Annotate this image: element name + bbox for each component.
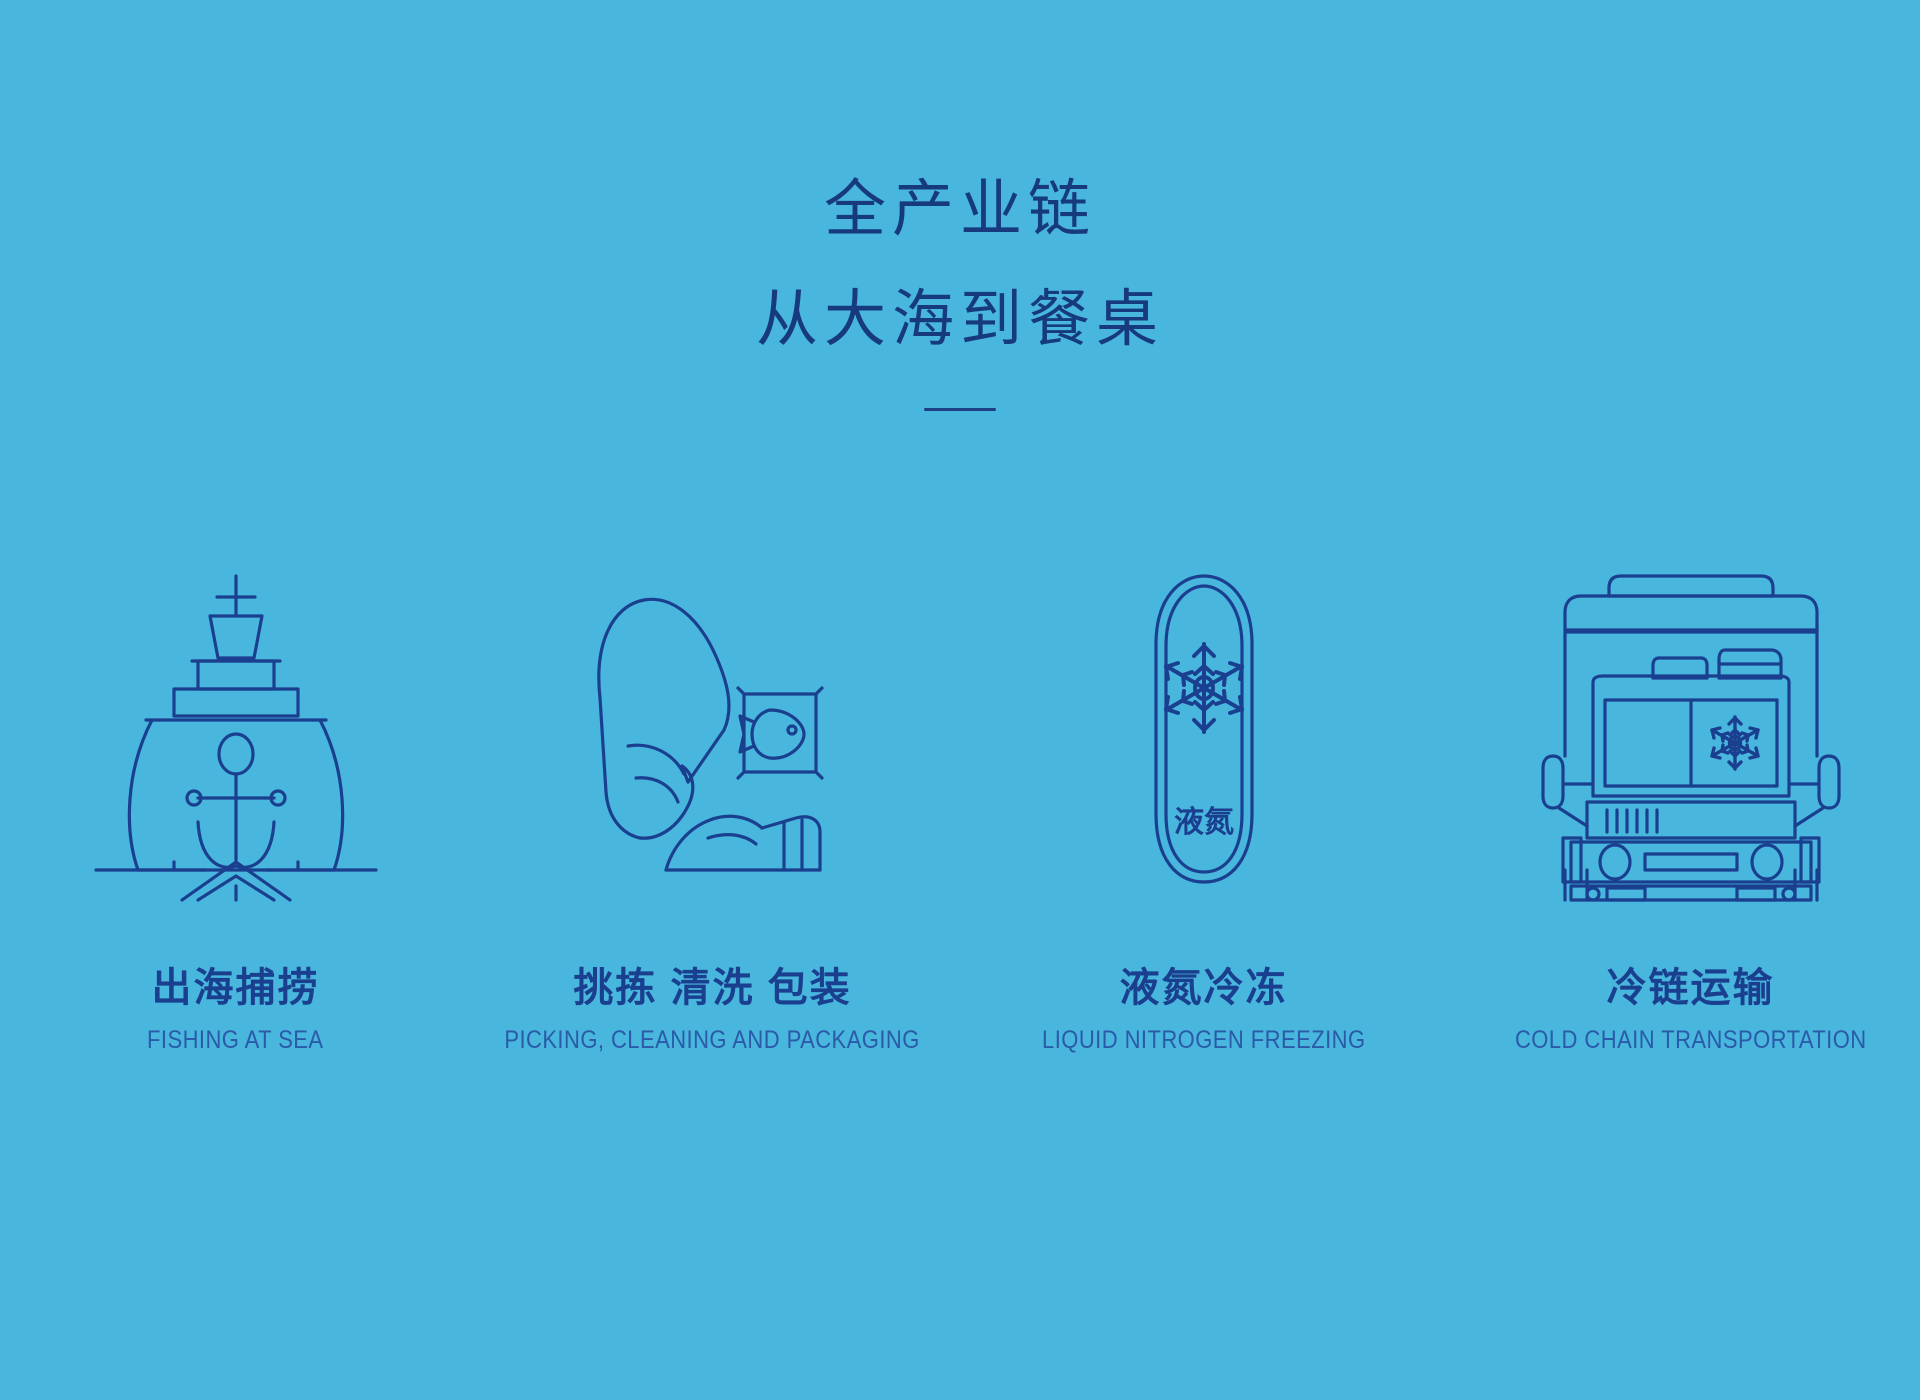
liquid-nitrogen-tank-icon: 液氮 <box>1094 520 1314 900</box>
step-label-cn: 冷链运输 <box>1491 966 1891 1010</box>
hands-holding-packaged-fish-icon <box>548 520 878 900</box>
step-label-cn: 挑拣 清洗 包装 <box>476 966 948 1010</box>
page-title-primary: 全产业链 <box>0 178 1920 240</box>
title-divider <box>924 408 996 411</box>
step-label-cn: 出海捕捞 <box>135 966 336 1010</box>
step-label-en: COLD CHAIN TRANSPORTATION <box>1515 1026 1867 1055</box>
step-labels: 液氮冷冻 LIQUID NITROGEN FREEZING <box>1020 966 1388 1055</box>
fishing-boat-with-anchor-icon <box>86 520 386 900</box>
step-labels: 出海捕捞 FISHING AT SEA <box>135 966 336 1055</box>
step-label-cn: 液氮冷冻 <box>1020 966 1388 1010</box>
step-label-en: PICKING, CLEANING AND PACKAGING <box>505 1026 920 1055</box>
tank-text: 液氮 <box>1174 805 1234 840</box>
refrigerated-truck-icon <box>1541 520 1841 900</box>
process-steps: 出海捕捞 FISHING AT SEA <box>0 520 1920 1055</box>
step-fishing-at-sea[interactable]: 出海捕捞 FISHING AT SEA <box>0 520 473 1055</box>
step-liquid-nitrogen-freezing[interactable]: 液氮 液氮冷冻 LIQUID NITROGEN FREEZING <box>966 520 1441 1055</box>
step-picking-cleaning-packaging[interactable]: 挑拣 清洗 包装 PICKING, CLEANING AND PACKAGING <box>475 520 950 1055</box>
step-labels: 挑拣 清洗 包装 PICKING, CLEANING AND PACKAGING <box>476 966 948 1055</box>
step-labels: 冷链运输 COLD CHAIN TRANSPORTATION <box>1491 966 1891 1055</box>
step-label-en: FISHING AT SEA <box>147 1026 324 1055</box>
step-label-en: LIQUID NITROGEN FREEZING <box>1042 1026 1365 1055</box>
step-cold-chain-transportation[interactable]: 冷链运输 COLD CHAIN TRANSPORTATION <box>1453 520 1920 1055</box>
page-header: 全产业链 从大海到餐桌 <box>0 0 1920 411</box>
page-title-secondary: 从大海到餐桌 <box>0 288 1920 350</box>
